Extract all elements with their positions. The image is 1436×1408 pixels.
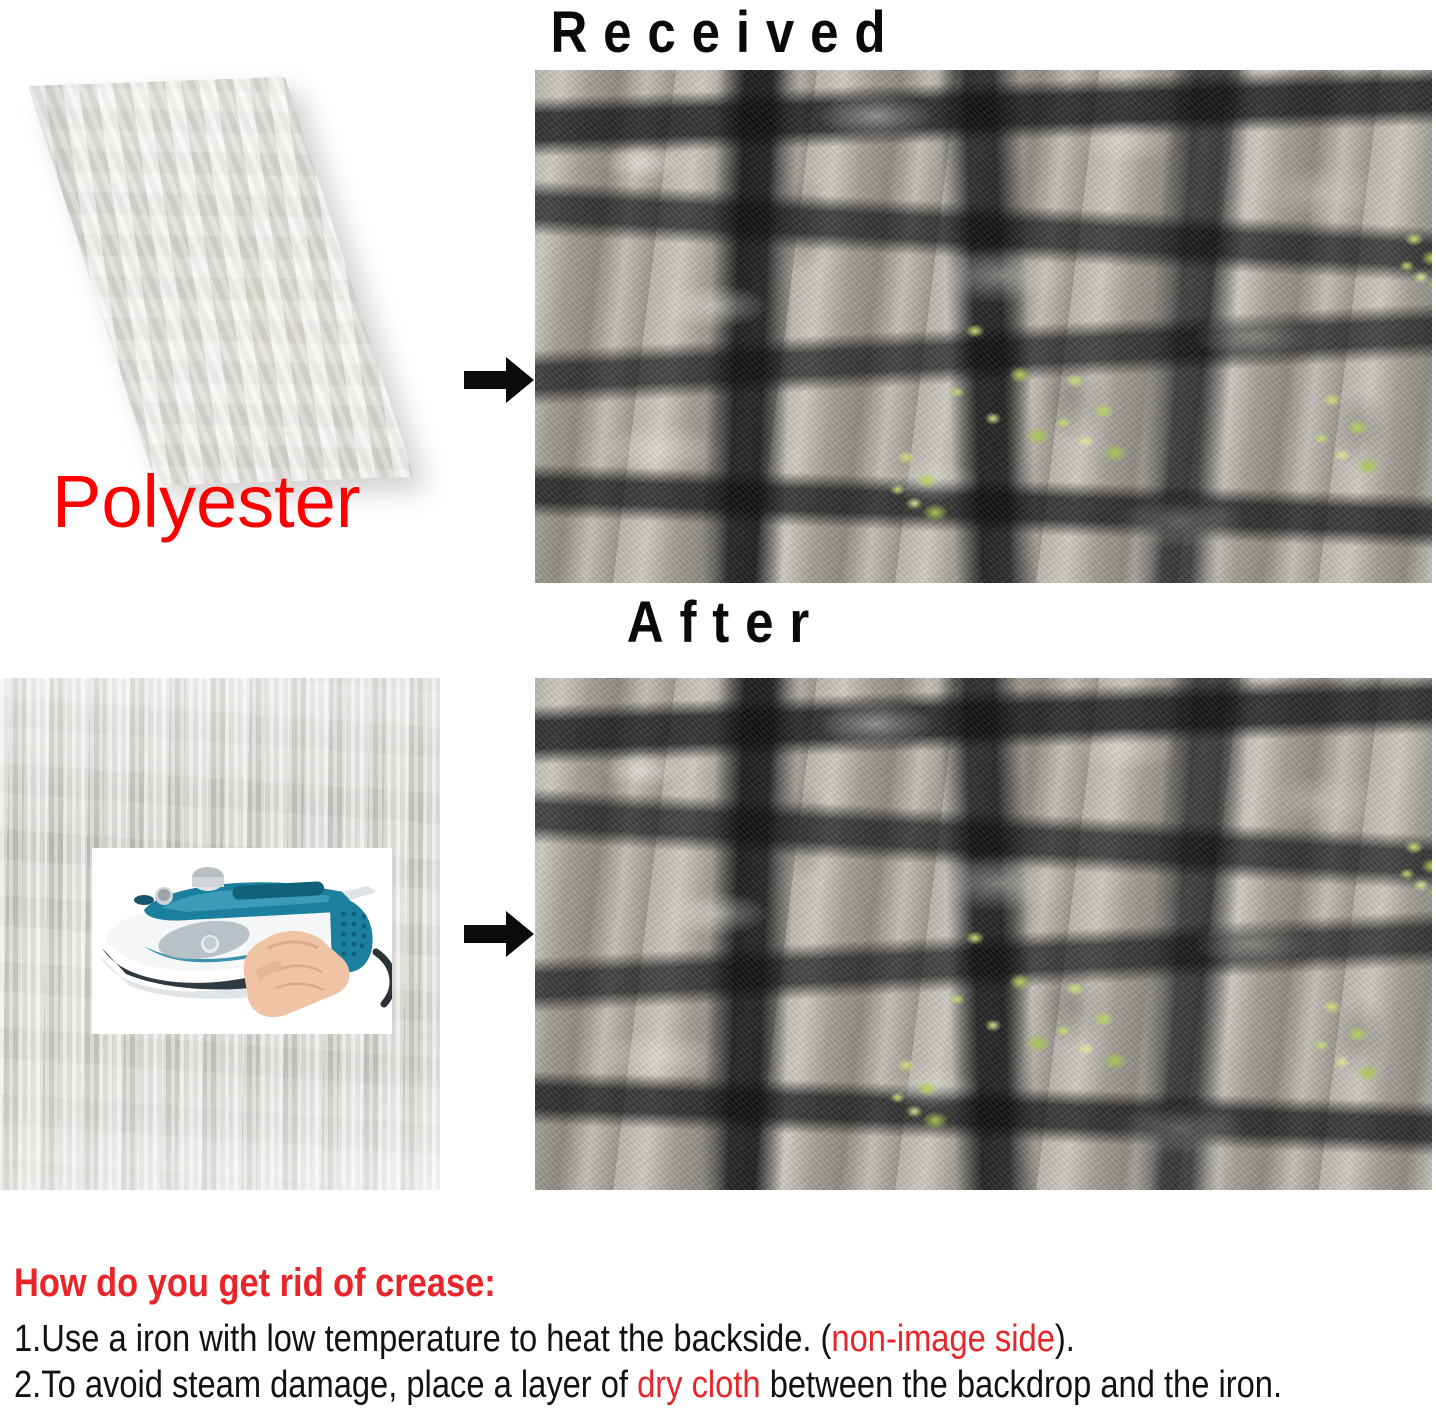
care-step-1-highlight: non-image side	[831, 1318, 1054, 1360]
care-step-1-text: 1.Use a iron with low temperature to hea…	[14, 1318, 831, 1360]
infographic-canvas: Received Polyester After	[0, 0, 1436, 1401]
care-step-1-suffix: ).	[1055, 1318, 1075, 1360]
care-instructions: How do you get rid of crease: 1.Use a ir…	[14, 1258, 1434, 1408]
received-rock-backdrop-photo	[535, 70, 1432, 583]
care-step-2-text: 2.To avoid steam damage, place a layer o…	[14, 1364, 637, 1406]
care-step-2-suffix: between the backdrop and the iron.	[761, 1364, 1282, 1406]
care-instruction-step-1: 1.Use a iron with low temperature to hea…	[14, 1316, 1235, 1362]
arrow-right-icon	[462, 352, 536, 408]
polyester-material-label: Polyester	[52, 462, 360, 542]
folded-polyester-fabric-image	[28, 77, 414, 486]
section-title-after: After	[86, 592, 1350, 654]
section-title-received: Received	[86, 2, 1350, 64]
care-instruction-step-2: 2.To avoid steam damage, place a layer o…	[14, 1362, 1235, 1408]
rock-texture-grain	[535, 70, 1432, 583]
steam-iron-illustration	[92, 848, 392, 1034]
rock-texture-grain	[535, 678, 1432, 1190]
arrow-right-icon	[462, 906, 536, 962]
care-step-2-highlight: dry cloth	[637, 1364, 761, 1406]
after-rock-backdrop-photo	[535, 678, 1432, 1190]
care-instructions-heading: How do you get rid of crease:	[14, 1258, 1235, 1308]
iron-icon	[92, 848, 392, 1034]
